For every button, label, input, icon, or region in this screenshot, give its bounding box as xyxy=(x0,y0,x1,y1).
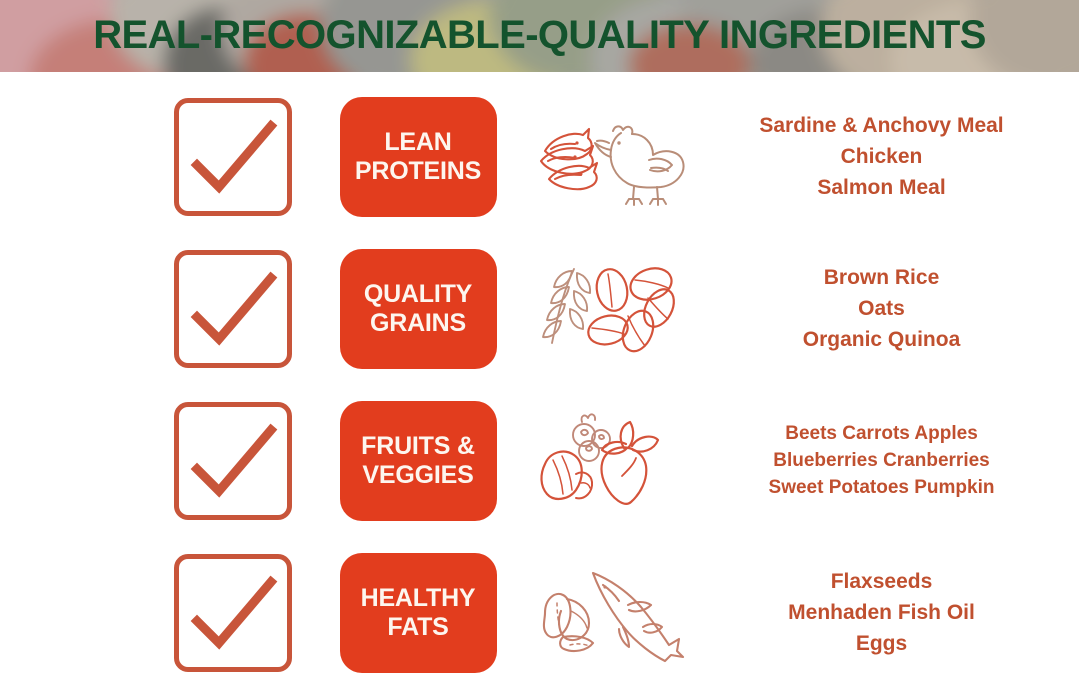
checkbox-cell xyxy=(0,402,320,520)
badge-line-1: QUALITY xyxy=(364,280,472,308)
ingredient-item: Beets Carrots Apples xyxy=(706,420,1057,447)
badge-line-2: VEGGIES xyxy=(362,461,473,489)
badge-cell: QUALITY GRAINS xyxy=(320,249,516,369)
badge-line-1: HEALTHY xyxy=(361,584,476,612)
ingredient-row: QUALITY GRAINS xyxy=(0,243,1079,374)
checkbox-fruits-veggies[interactable] xyxy=(174,402,292,520)
ingredient-row: HEALTHY FATS xyxy=(0,547,1079,678)
ingredient-list-quality-grains: Brown Rice Oats Organic Quinoa xyxy=(706,262,1079,355)
ingredient-item: Menhaden Fish Oil xyxy=(706,597,1057,628)
badge-line-1: FRUITS & xyxy=(361,432,475,460)
page-title: REAL-RECOGNIZABLE-QUALITY INGREDIENTS xyxy=(0,12,1079,58)
ingredient-item: Salmon Meal xyxy=(706,172,1057,203)
ingredient-list-fruits-veggies: Beets Carrots Apples Blueberries Cranber… xyxy=(706,420,1079,501)
badge-line-2: GRAINS xyxy=(370,309,466,337)
ingredient-list-healthy-fats: Flaxseeds Menhaden Fish Oil Eggs xyxy=(706,566,1079,659)
ingredient-item: Sardine & Anchovy Meal xyxy=(706,110,1057,141)
icon-cell xyxy=(516,561,706,665)
badge-cell: FRUITS & VEGGIES xyxy=(320,401,516,521)
wheat-and-grains-icon xyxy=(536,257,686,361)
ingredient-rows: LEAN PROTEINS xyxy=(0,72,1079,678)
fish-and-chicken-icon xyxy=(531,105,691,209)
checkbox-quality-grains[interactable] xyxy=(174,250,292,368)
ingredient-list-lean-proteins: Sardine & Anchovy Meal Chicken Salmon Me… xyxy=(706,110,1079,203)
badge-line-2: FATS xyxy=(387,613,448,641)
badge-cell: HEALTHY FATS xyxy=(320,553,516,673)
badge-line-2: PROTEINS xyxy=(355,157,481,185)
ingredient-item: Oats xyxy=(706,293,1057,324)
badge-fruits-veggies[interactable]: FRUITS & VEGGIES xyxy=(340,401,497,521)
checkbox-healthy-fats[interactable] xyxy=(174,554,292,672)
ingredient-item: Eggs xyxy=(706,628,1057,659)
checkbox-cell xyxy=(0,250,320,368)
checkbox-lean-proteins[interactable] xyxy=(174,98,292,216)
checkmark-icon xyxy=(179,103,287,211)
checkmark-icon xyxy=(179,255,287,363)
ingredient-item: Brown Rice xyxy=(706,262,1057,293)
ingredient-item: Chicken xyxy=(706,141,1057,172)
badge-healthy-fats[interactable]: HEALTHY FATS xyxy=(340,553,497,673)
badge-lean-proteins[interactable]: LEAN PROTEINS xyxy=(340,97,497,217)
badge-quality-grains[interactable]: QUALITY GRAINS xyxy=(340,249,497,369)
checkmark-icon xyxy=(179,407,287,515)
ingredient-row: LEAN PROTEINS xyxy=(0,91,1079,222)
ingredient-item: Blueberries Cranberries xyxy=(706,447,1057,474)
sweet-potato-berries-beet-icon xyxy=(536,408,686,514)
ingredient-row: FRUITS & VEGGIES xyxy=(0,395,1079,526)
icon-cell xyxy=(516,105,706,209)
checkbox-cell xyxy=(0,98,320,216)
badge-cell: LEAN PROTEINS xyxy=(320,97,516,217)
infographic-page: REAL-RECOGNIZABLE-QUALITY INGREDIENTS LE… xyxy=(0,0,1079,682)
ingredient-item: Organic Quinoa xyxy=(706,324,1057,355)
checkbox-cell xyxy=(0,554,320,672)
flaxseed-and-fish-icon xyxy=(531,561,691,665)
ingredient-item: Sweet Potatoes Pumpkin xyxy=(706,474,1057,501)
icon-cell xyxy=(516,257,706,361)
checkmark-icon xyxy=(179,559,287,667)
icon-cell xyxy=(516,408,706,514)
ingredient-item: Flaxseeds xyxy=(706,566,1057,597)
badge-line-1: LEAN xyxy=(384,128,451,156)
header-banner: REAL-RECOGNIZABLE-QUALITY INGREDIENTS xyxy=(0,0,1079,72)
